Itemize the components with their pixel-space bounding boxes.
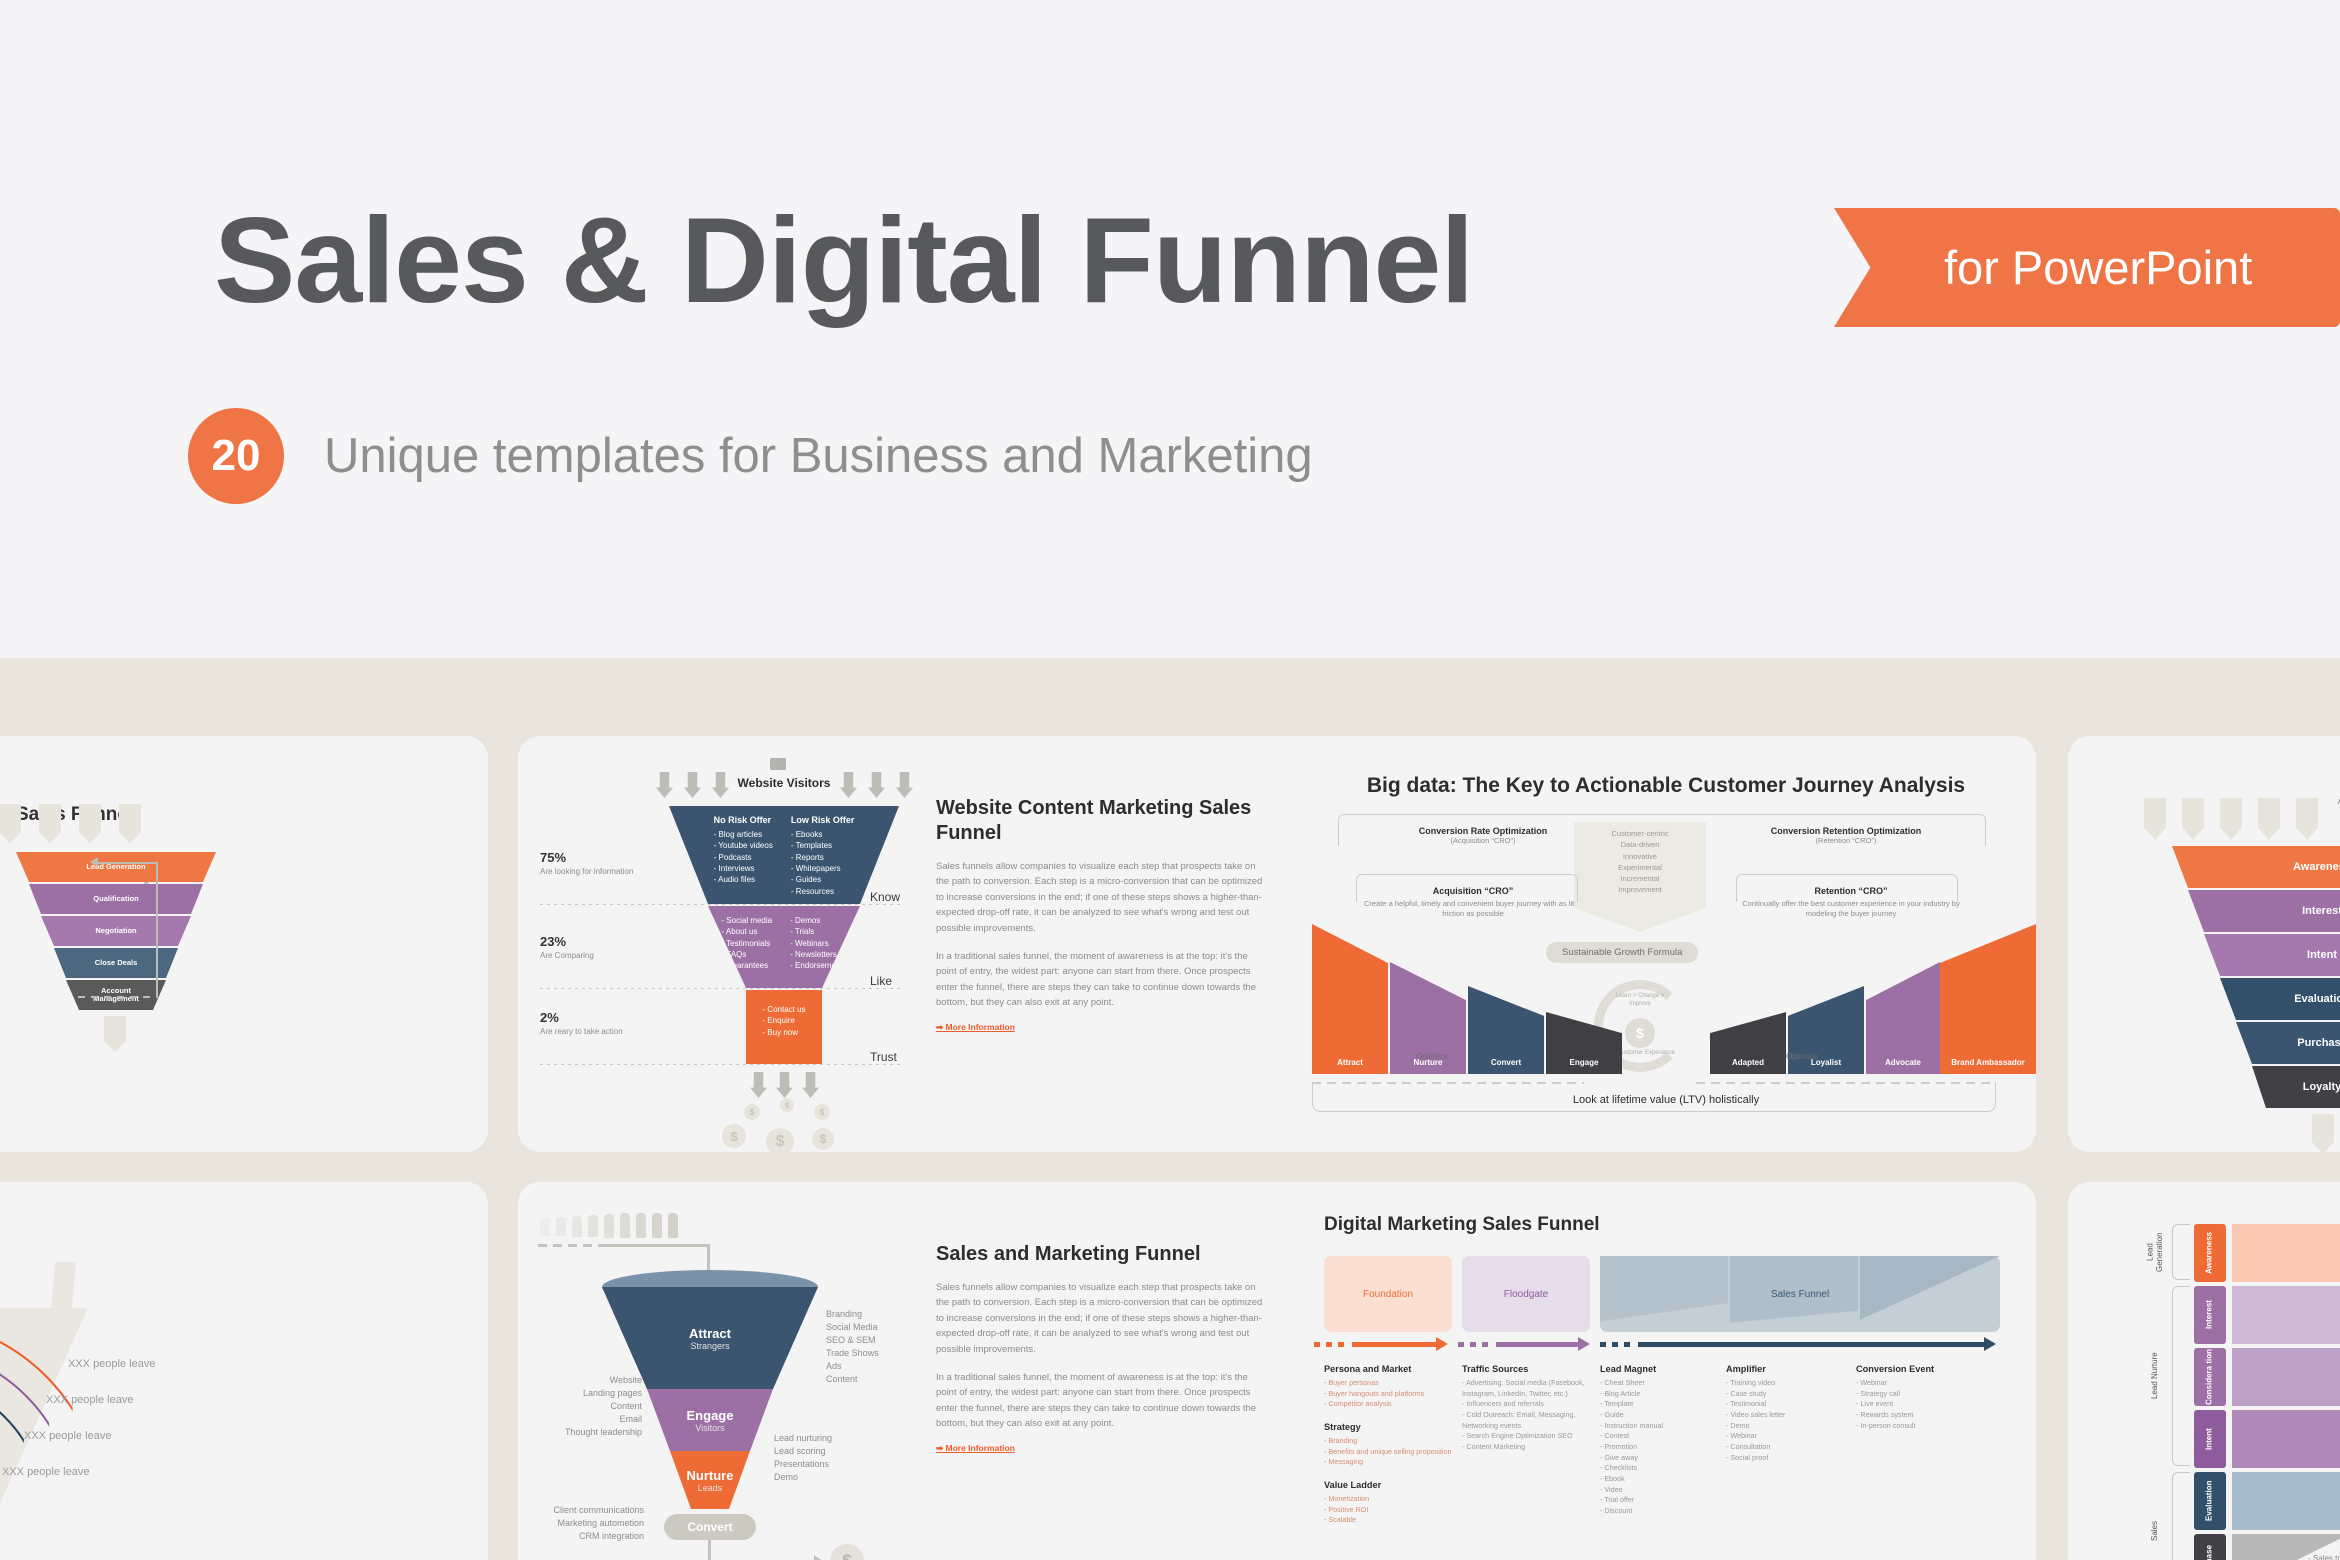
offer-item: - Youtube videos bbox=[714, 840, 773, 851]
card8-inner: AwarenessInterestConsidera tionIntentEva… bbox=[2068, 1182, 2340, 1560]
stage-chip: Evaluation bbox=[2194, 1472, 2226, 1530]
column-heading: Conversion Event bbox=[1856, 1364, 1990, 1374]
funnel-step: Intent bbox=[2204, 934, 2340, 976]
phase-arrow-line bbox=[1458, 1342, 1580, 1347]
column-list-item: - Strategy call bbox=[1856, 1389, 1990, 1400]
column-list-item: - Webinar bbox=[1726, 1431, 1860, 1442]
group-label: Lead Generation bbox=[2142, 1224, 2168, 1280]
dashed-lead-in bbox=[538, 1244, 606, 1247]
column-list: - Training video- Case study- Testimonia… bbox=[1726, 1378, 1860, 1463]
column-list-item: - Benefits and unique selling propositio… bbox=[1324, 1447, 1458, 1458]
offer-column-title: No Risk Offer bbox=[714, 815, 773, 825]
detail-column: Persona and Market- Buyer personas- Buye… bbox=[1324, 1364, 1458, 1526]
group-bracket bbox=[2172, 1224, 2190, 1280]
funnel-step: Lead Generation bbox=[16, 852, 216, 882]
offer-item: - Enquire bbox=[762, 1015, 805, 1026]
column-list-item: - Cheat Sheet bbox=[1600, 1378, 1734, 1389]
stage-metric: 75%Are looking for information bbox=[540, 850, 640, 878]
nurture-notes: Lead nurturingLead scoringPresentationsD… bbox=[774, 1432, 832, 1484]
journey-stage: Brand Ambassador bbox=[1940, 924, 2036, 1074]
column-list-item: - Buyer personas bbox=[1324, 1378, 1458, 1389]
column-list-item: - Messaging bbox=[1324, 1457, 1458, 1468]
phase-block: Floodgate bbox=[1462, 1256, 1590, 1332]
funnel-step: Account Management bbox=[66, 980, 166, 1010]
note-line: CRM integration bbox=[528, 1530, 644, 1543]
coin-icon: $ bbox=[812, 1128, 834, 1150]
column-list-item: - Checklists bbox=[1600, 1463, 1734, 1474]
column-list-item: - Ebook bbox=[1600, 1474, 1734, 1485]
column-heading: Strategy bbox=[1324, 1422, 1458, 1432]
stage-chip: Considera tion bbox=[2194, 1348, 2226, 1406]
column-list-item: - Case study bbox=[1726, 1389, 1860, 1400]
column-list-item: - Give away bbox=[1600, 1453, 1734, 1464]
stage-chip: Purchase bbox=[2194, 1534, 2226, 1560]
template-gallery: VS Sales Funnel Referrals Lead Generatio… bbox=[0, 658, 2340, 1560]
funnel-step: Loyalty bbox=[2252, 1066, 2340, 1108]
stage-divider bbox=[540, 1064, 904, 1065]
offer-item: - Newsletters bbox=[790, 949, 846, 960]
template-card-sales-funnel-stages[interactable]: Sales Funnel A sales funnel looks at the… bbox=[2068, 736, 2340, 1152]
column-list-item: - Consultation bbox=[1726, 1442, 1860, 1453]
offer-column-title: Low Risk Offer bbox=[791, 815, 855, 825]
card1-inner: VS Sales Funnel Referrals Lead Generatio… bbox=[0, 736, 488, 1152]
down-arrow-icon bbox=[868, 772, 885, 798]
person-icon bbox=[668, 1213, 678, 1238]
down-arrow-icon bbox=[2220, 798, 2242, 840]
more-information-label: More Information bbox=[945, 1443, 1014, 1453]
stage-side-label: Like bbox=[870, 974, 892, 988]
more-information-link[interactable]: ➡ More Information bbox=[936, 1022, 1015, 1033]
column-list-item: - Blog Article bbox=[1600, 1389, 1734, 1400]
funnel-step: Close Deals bbox=[54, 948, 178, 978]
column-list: - Buyer personas- Buyer hangouts and pla… bbox=[1324, 1378, 1458, 1410]
offer-item: - FAQs bbox=[721, 949, 772, 960]
column-list-item: - Instruction manual bbox=[1600, 1421, 1734, 1432]
card4-inner: Sales Funnel A sales funnel looks at the… bbox=[2068, 736, 2340, 1152]
cone-stage-name: Engage bbox=[687, 1408, 734, 1423]
convert-pill: Convert bbox=[664, 1514, 756, 1540]
offer-item: - Blog articles bbox=[714, 829, 773, 840]
retention-cro-sub: Continually offer the best customer expe… bbox=[1736, 899, 1966, 919]
column-heading: Traffic Sources bbox=[1462, 1364, 1596, 1374]
offer-item: - About us bbox=[721, 926, 772, 937]
stage-bar bbox=[2232, 1472, 2340, 1530]
column-list-item: - Template bbox=[1600, 1399, 1734, 1410]
offer-item: - Audio files bbox=[714, 874, 773, 885]
down-arrow-icon bbox=[119, 804, 141, 844]
column-list: - Cheat Sheet- Blog Article- Template- G… bbox=[1600, 1378, 1734, 1517]
card3-inner: Big data: The Key to Actionable Customer… bbox=[1296, 736, 2036, 1152]
funnel-band: No Risk Offer- Blog articles- Youtube vi… bbox=[669, 806, 899, 904]
offer-item: - Podcasts bbox=[714, 852, 773, 863]
down-arrow-icon bbox=[684, 772, 701, 798]
stage-bar bbox=[2232, 1410, 2340, 1468]
person-icon bbox=[604, 1214, 614, 1238]
person-icon bbox=[540, 1218, 550, 1236]
coin-icon: $ bbox=[766, 1128, 794, 1152]
stage-percent: 2% bbox=[540, 1010, 640, 1025]
column-heading: Value Ladder bbox=[1324, 1480, 1458, 1490]
stage-percent: 75% bbox=[540, 850, 640, 865]
down-arrow-icon bbox=[79, 804, 101, 844]
coin-icon: $ bbox=[814, 1104, 830, 1120]
column-list-item: - Positive ROI bbox=[1324, 1505, 1458, 1516]
down-arrow-icon bbox=[2312, 1114, 2334, 1152]
cone-stage: NurtureLeads bbox=[670, 1451, 750, 1509]
note-line: Email bbox=[534, 1413, 642, 1426]
funnel-band: - Contact us- Enquire- Buy now bbox=[746, 990, 822, 1064]
group-label: Lead Nurture bbox=[2142, 1286, 2168, 1466]
stage-metric: 2%Are reary to take action bbox=[540, 1010, 640, 1038]
page-title: Sales & Digital Funnel bbox=[214, 190, 1473, 330]
template-count-badge: 20 bbox=[188, 408, 284, 504]
cone-stage: EngageVisitors bbox=[647, 1389, 773, 1451]
referral-loop-bottom bbox=[78, 996, 156, 998]
offer-item: - Ebooks bbox=[791, 829, 855, 840]
column-list-item: - Guide bbox=[1600, 1410, 1734, 1421]
convert-notes: Client communicationsMarketing autometio… bbox=[528, 1504, 644, 1543]
note-line: Marketing autometion bbox=[528, 1517, 644, 1530]
offer-item: - Webinars bbox=[790, 938, 846, 949]
phase-arrow-line bbox=[1600, 1342, 1986, 1347]
column-list: - Monetization- Positive ROI- Scalable bbox=[1324, 1494, 1458, 1526]
stage-chip: Awareness bbox=[2194, 1224, 2226, 1282]
offer-item: - Buy now bbox=[762, 1027, 805, 1038]
cone-funnel-graphic: AttractStrangersEngageVisitorsNurtureLea… bbox=[518, 1182, 938, 1560]
template-card-stage-matrix[interactable]: AwarenessInterestConsidera tionIntentEva… bbox=[2068, 1182, 2340, 1560]
column-list-item: - Advertising: Social media (Facebook, I… bbox=[1462, 1378, 1596, 1399]
stage-side-label: Know bbox=[870, 890, 900, 904]
note-line: Ads bbox=[826, 1360, 879, 1373]
center-arrow-line: Incremental bbox=[1574, 873, 1706, 884]
down-arrow-icon bbox=[2296, 798, 2318, 840]
coin-icon: $ bbox=[1625, 1018, 1655, 1048]
note-line: Branding bbox=[826, 1308, 879, 1321]
stage-side-label: Trust bbox=[870, 1050, 897, 1064]
people-leave-label: XXX people leave bbox=[24, 1430, 111, 1442]
column-heading: Amplifier bbox=[1726, 1364, 1860, 1374]
funnel-step: Purchase bbox=[2236, 1022, 2340, 1064]
stage-chip: Intent bbox=[2194, 1410, 2226, 1468]
note-line: Demo bbox=[774, 1471, 832, 1484]
template-card-digital-marketing-funnel[interactable]: Digital Marketing Sales Funnel Foundatio… bbox=[1296, 1182, 2036, 1560]
card2-text-panel: Website Content Marketing Sales Funnel S… bbox=[936, 796, 1264, 1035]
note-line: SEO & SEM bbox=[826, 1334, 879, 1347]
column-list-item: - Competitor analysis bbox=[1324, 1399, 1458, 1410]
engage-notes: WebsiteLanding pagesContentEmailThought … bbox=[534, 1374, 642, 1439]
down-arrow-icon bbox=[2144, 798, 2166, 840]
stage-divider bbox=[540, 904, 904, 905]
offer-item: - Templates bbox=[791, 840, 855, 851]
card5-inner: ourney: and Bounce Rates 40%35%25%8%$XXX… bbox=[0, 1182, 488, 1560]
hero-section: Sales & Digital Funnel for PowerPoint 20… bbox=[0, 0, 2340, 658]
stage-bar bbox=[2232, 1224, 2340, 1282]
referral-loop-line bbox=[156, 862, 158, 998]
ltv-bracket bbox=[1312, 1082, 1996, 1112]
column-list-item: - Webinar bbox=[1856, 1378, 1990, 1389]
template-card-customer-journey-radial[interactable]: ourney: and Bounce Rates 40%35%25%8%$XXX… bbox=[0, 1182, 488, 1560]
stage-note: - Sales transaction is co bbox=[2308, 1554, 2340, 1560]
note-line: Content bbox=[826, 1373, 879, 1386]
card7-title: Digital Marketing Sales Funnel bbox=[1324, 1214, 1600, 1236]
column-list-item: - Live event bbox=[1856, 1399, 1990, 1410]
stage-divider bbox=[540, 988, 904, 989]
phase-block-label: Sales Funnel bbox=[1600, 1256, 2000, 1332]
column-list-item: - Demo bbox=[1726, 1421, 1860, 1432]
outer-bracket bbox=[1338, 814, 1986, 846]
down-arrow-icon bbox=[802, 1072, 819, 1098]
offer-item: - Resources bbox=[791, 886, 855, 897]
offer-item: - Social media bbox=[721, 915, 772, 926]
people-leave-label: XXX people leave bbox=[68, 1358, 155, 1370]
panel-paragraph-2: In a traditional sales funnel, the momen… bbox=[936, 1370, 1264, 1432]
card4-title: Sales Funnel bbox=[2068, 766, 2340, 790]
note-line: Website bbox=[534, 1374, 642, 1387]
offer-item: - Demos bbox=[790, 915, 846, 926]
note-line: Content bbox=[534, 1400, 642, 1413]
offer-item: - Guarantees bbox=[721, 960, 772, 971]
phase-arrow-line bbox=[1314, 1342, 1438, 1347]
center-arrow-line: Experimental bbox=[1574, 862, 1706, 873]
group-bracket bbox=[2172, 1472, 2190, 1560]
column-list: - Advertising: Social media (Facebook, I… bbox=[1462, 1378, 1596, 1453]
column-list-item: - Buyer hangouts and platforms bbox=[1324, 1389, 1458, 1400]
column-heading: Persona and Market bbox=[1324, 1364, 1458, 1374]
convert-line bbox=[708, 1540, 711, 1560]
column-list-item: - Promotion bbox=[1600, 1442, 1734, 1453]
down-arrow-icon bbox=[2258, 798, 2280, 840]
down-arrow-icon bbox=[776, 1072, 793, 1098]
offer-column: Low Risk Offer- Ebooks- Templates- Repor… bbox=[791, 815, 855, 904]
note-line: Landing pages bbox=[534, 1387, 642, 1400]
offer-item: - Interviews bbox=[714, 863, 773, 874]
note-line: Client communications bbox=[528, 1504, 644, 1517]
detail-column: Lead Magnet- Cheat Sheet- Blog Article- … bbox=[1600, 1364, 1734, 1517]
column-list-item: - Video bbox=[1600, 1485, 1734, 1496]
template-card-big-data-journey[interactable]: Big data: The Key to Actionable Customer… bbox=[1296, 736, 2036, 1152]
stage-bar bbox=[2232, 1348, 2340, 1406]
arrow-head-icon bbox=[1578, 1337, 1590, 1351]
panel-paragraph-2: In a traditional sales funnel, the momen… bbox=[936, 949, 1264, 1011]
offer-column: No Risk Offer- Blog articles- Youtube vi… bbox=[714, 815, 773, 904]
note-line: Trade Shows bbox=[826, 1347, 879, 1360]
person-icon bbox=[556, 1217, 566, 1236]
detail-column: Conversion Event- Webinar- Strategy call… bbox=[1856, 1364, 1990, 1431]
down-arrow-icon bbox=[2182, 798, 2204, 840]
panel-paragraph-1: Sales funnels allow companies to visuali… bbox=[936, 859, 1264, 936]
person-icon bbox=[636, 1213, 646, 1238]
coin-icon: $ bbox=[830, 1544, 864, 1560]
column-heading: Lead Magnet bbox=[1600, 1364, 1734, 1374]
radial-funnel-graphic: 40%35%25%8%$XXX people leaveXXX people l… bbox=[0, 1182, 488, 1560]
down-arrow-icon bbox=[896, 772, 913, 798]
funnel-step: Qualification bbox=[29, 884, 203, 914]
funnel-step: Evaluation bbox=[2220, 978, 2340, 1020]
panel-title: Sales and Marketing Funnel bbox=[936, 1242, 1264, 1267]
column-list-item: - Social proof bbox=[1726, 1453, 1860, 1464]
offer-column: - Social media- About us- Testimonials- … bbox=[721, 915, 772, 988]
person-icon bbox=[620, 1213, 630, 1238]
down-arrow-icon bbox=[656, 772, 673, 798]
funnel-step: Awareness bbox=[2172, 846, 2340, 888]
group-label: Sales bbox=[2142, 1472, 2168, 1560]
card1-title: Sales Funnel bbox=[16, 804, 133, 826]
column-list-item: - Monetization bbox=[1324, 1494, 1458, 1505]
funnel-band: - Social media- About us- Testimonials- … bbox=[708, 906, 860, 988]
arrow-head-icon bbox=[1984, 1337, 1996, 1351]
stage-chip: Interest bbox=[2194, 1286, 2226, 1344]
card7-inner: Digital Marketing Sales Funnel Foundatio… bbox=[1296, 1182, 2036, 1560]
column-list-item: - Branding bbox=[1324, 1436, 1458, 1447]
coin-icon: $ bbox=[744, 1104, 760, 1120]
center-arrow-line: Innovative bbox=[1574, 851, 1706, 862]
column-list-item: - Scalable bbox=[1324, 1515, 1458, 1526]
stage-bar bbox=[2232, 1286, 2340, 1344]
arrow-head-icon bbox=[814, 1555, 823, 1560]
funnel-step: Interest bbox=[2188, 890, 2340, 932]
column-list-item: - Testimonial bbox=[1726, 1399, 1860, 1410]
column-list-item: - Trial offer bbox=[1600, 1495, 1734, 1506]
detail-column: Traffic Sources- Advertising: Social med… bbox=[1462, 1364, 1596, 1453]
offer-item: - Endorsements bbox=[790, 960, 846, 971]
note-line: Thought leadership bbox=[534, 1426, 642, 1439]
stage-percent: 23% bbox=[540, 934, 640, 949]
optimize-left-label: Optimize bbox=[1416, 1052, 1448, 1061]
panel-paragraph-1: Sales funnels allow companies to visuali… bbox=[936, 1280, 1264, 1357]
detail-column: Amplifier- Training video- Case study- T… bbox=[1726, 1364, 1860, 1463]
panel-title: Website Content Marketing Sales Funnel bbox=[936, 796, 1264, 846]
people-leave-label: XXX people leave bbox=[46, 1394, 133, 1406]
column-list-item: - Video sales letter bbox=[1726, 1410, 1860, 1421]
down-arrow-icon bbox=[0, 804, 21, 844]
offer-item: - Contact us bbox=[762, 1004, 805, 1015]
column-list-item: - Influencers and referrals bbox=[1462, 1399, 1596, 1410]
down-arrow-icon bbox=[39, 804, 61, 844]
attract-notes: BrandingSocial MediaSEO & SEMTrade Shows… bbox=[826, 1308, 879, 1386]
page-subtitle: Unique templates for Business and Market… bbox=[324, 428, 1313, 484]
powerpoint-ribbon-badge: for PowerPoint bbox=[1834, 208, 2340, 327]
card6-text-panel: Sales and Marketing Funnel Sales funnels… bbox=[936, 1242, 1264, 1456]
note-line: Lead nurturing bbox=[774, 1432, 832, 1445]
more-information-label: More Information bbox=[945, 1022, 1014, 1032]
more-information-link[interactable]: ➡ More Information bbox=[936, 1443, 1015, 1454]
left-inner-bracket bbox=[1356, 874, 1578, 902]
note-line: Social Media bbox=[826, 1321, 879, 1334]
visitors-icon bbox=[770, 758, 786, 770]
journey-stage: Advocate bbox=[1866, 962, 1940, 1074]
journey-stage: Adapted bbox=[1710, 1012, 1786, 1074]
note-line: Presentations bbox=[774, 1458, 832, 1471]
column-list-item: - Content Marketing bbox=[1462, 1442, 1596, 1453]
referral-loop-top bbox=[98, 862, 156, 864]
card3-title: Big data: The Key to Actionable Customer… bbox=[1296, 774, 2036, 798]
offer-column: - Contact us- Enquire- Buy now bbox=[762, 1004, 805, 1064]
stage-description: Are Comparing bbox=[540, 951, 640, 962]
down-arrow-icon bbox=[750, 1072, 767, 1098]
arrow-head-icon bbox=[1436, 1337, 1448, 1351]
column-list: - Webinar- Strategy call- Live event- Re… bbox=[1856, 1378, 1990, 1431]
column-list-item: - Rewards system bbox=[1856, 1410, 1990, 1421]
person-icon bbox=[572, 1216, 582, 1237]
cone-stage-name: Nurture bbox=[687, 1468, 734, 1483]
arrow-head-icon bbox=[90, 857, 98, 867]
journey-stage: Convert bbox=[1468, 986, 1544, 1074]
coin-icon: $ bbox=[780, 1098, 794, 1112]
cone-stage-sub: Leads bbox=[698, 1483, 723, 1493]
subtitle-row: 20 Unique templates for Business and Mar… bbox=[188, 408, 1313, 504]
column-list-item: - Cold Outreach: Email, Messaging, Netwo… bbox=[1462, 1410, 1596, 1431]
column-list-item: - Contest bbox=[1600, 1431, 1734, 1442]
stage-description: Are reary to take action bbox=[540, 1027, 640, 1038]
stage-metric: 23%Are Comparing bbox=[540, 934, 640, 962]
offer-column: - Demos- Trials- Webinars- Newsletters- … bbox=[790, 915, 846, 988]
column-list-item: - In-person consult bbox=[1856, 1421, 1990, 1432]
people-leave-label: XXX people leave bbox=[2, 1466, 89, 1478]
down-arrow-icon bbox=[104, 1016, 126, 1052]
phase-block: Foundation bbox=[1324, 1256, 1452, 1332]
cone-stage-sub: Strangers bbox=[690, 1341, 729, 1351]
cone-stage-name: Attract bbox=[689, 1326, 731, 1341]
note-line: Lead scoring bbox=[774, 1445, 832, 1458]
website-visitors-label: Website Visitors bbox=[714, 776, 854, 790]
coin-icon: $ bbox=[722, 1124, 746, 1148]
offer-item: - Trials bbox=[790, 926, 846, 937]
template-card-sales-funnel-vs[interactable]: VS Sales Funnel Referrals Lead Generatio… bbox=[0, 736, 488, 1152]
stage-description: Are looking for information bbox=[540, 867, 640, 878]
acquisition-cro-sub: Create a helpful, timely and convenient … bbox=[1358, 899, 1588, 919]
person-icon bbox=[652, 1213, 662, 1238]
journey-stage: Attract bbox=[1312, 924, 1388, 1074]
cycle-top-label: Learn > Change > Improve bbox=[1610, 992, 1670, 1009]
optimize-right-label: Optimize bbox=[1786, 1052, 1818, 1061]
column-list: - Branding- Benefits and unique selling … bbox=[1324, 1436, 1458, 1468]
growth-formula-pill: Sustainable Growth Formula bbox=[1546, 942, 1698, 963]
group-bracket bbox=[2172, 1286, 2190, 1466]
column-list-item: - Training video bbox=[1726, 1378, 1860, 1389]
offer-item: - Testimonials bbox=[721, 938, 772, 949]
cone-stage-sub: Visitors bbox=[695, 1423, 724, 1433]
person-icon bbox=[588, 1215, 598, 1237]
offer-item: - Guides bbox=[791, 874, 855, 885]
column-list-item: - Discount bbox=[1600, 1506, 1734, 1517]
ribbon-label: for PowerPoint bbox=[1944, 240, 2252, 295]
column-list-item: - Search Engine Optimization SEO bbox=[1462, 1431, 1596, 1442]
offer-item: - Whitepapers bbox=[791, 863, 855, 874]
offer-item: - Reports bbox=[791, 852, 855, 863]
right-inner-bracket bbox=[1736, 874, 1958, 902]
funnel-step: Negotiation bbox=[41, 916, 191, 946]
center-arrow-line: Improvement bbox=[1574, 884, 1706, 895]
lead-in-line bbox=[604, 1244, 710, 1247]
